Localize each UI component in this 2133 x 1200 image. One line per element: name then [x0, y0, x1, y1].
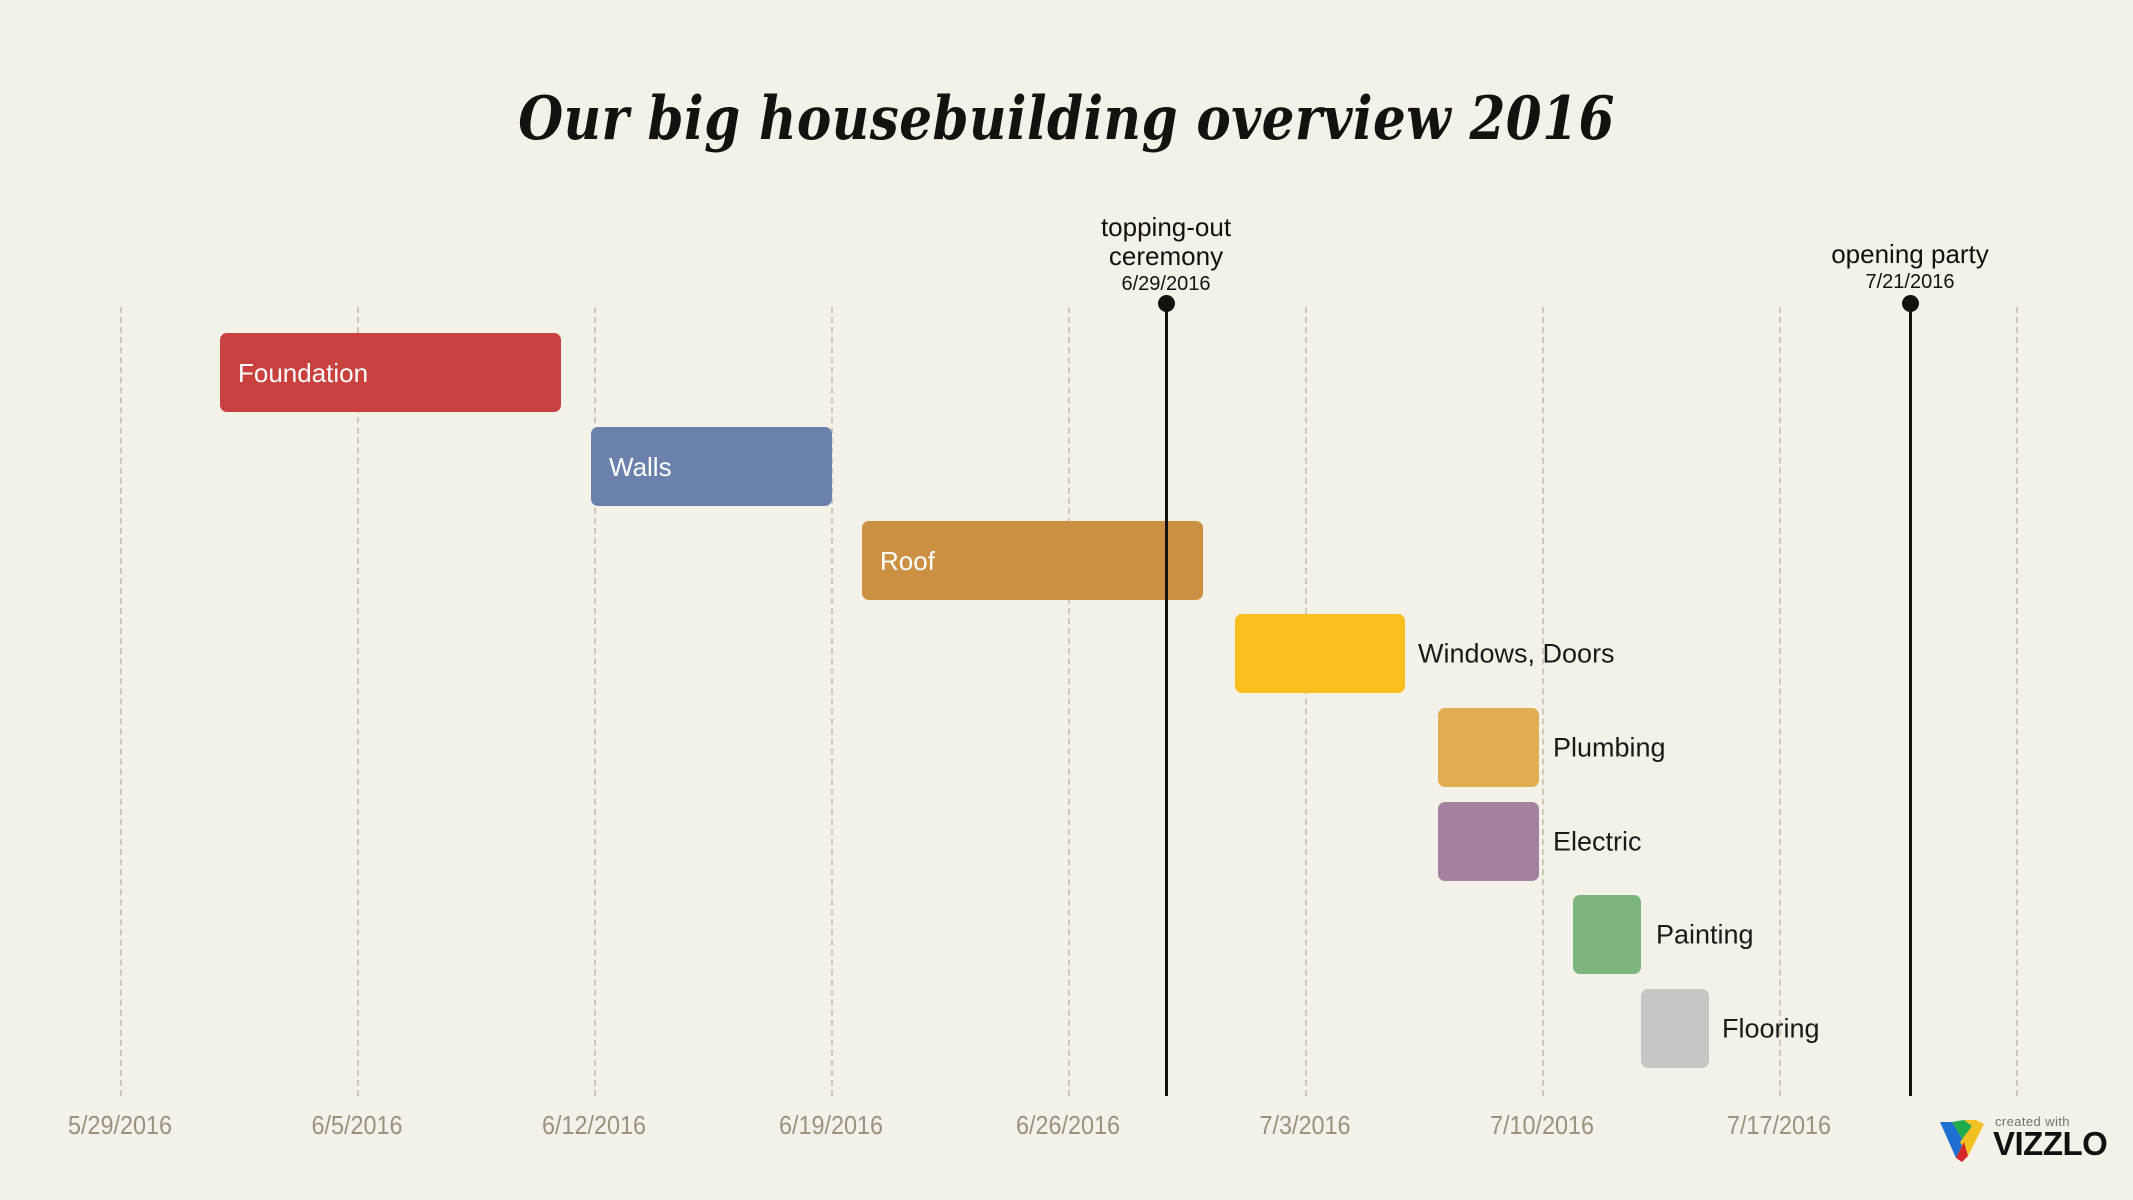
gantt-bar-label: Electric [1553, 829, 1642, 856]
axis-tick-label: 6/5/2016 [267, 1110, 447, 1141]
gridline [1305, 307, 1307, 1096]
axis-tick-label: 6/26/2016 [978, 1110, 1158, 1141]
gantt-bar-label: Plumbing [1553, 735, 1666, 762]
gridline [2016, 307, 2018, 1096]
gridline [1542, 307, 1544, 1096]
milestone-label-opening-party: opening party 7/21/2016 [1810, 240, 2010, 294]
milestone-date: 6/29/2016 [1066, 273, 1266, 295]
milestone-name: opening party [1810, 240, 2010, 269]
axis-tick-label: 7/17/2016 [1689, 1110, 1869, 1141]
axis-tick-label: 7/3/2016 [1215, 1110, 1395, 1141]
gantt-bar-label: Walls [609, 454, 672, 480]
gantt-bar-electric[interactable] [1438, 802, 1539, 881]
plot-area: Foundation Walls Roof Windows, Doors Plu… [0, 0, 2133, 1200]
milestone-label-topping-out: topping-out ceremony 6/29/2016 [1066, 213, 1266, 296]
gantt-bar-label: Foundation [238, 360, 368, 386]
milestone-name: topping-out [1066, 213, 1266, 242]
gridline [594, 307, 596, 1096]
axis-tick-label: 6/19/2016 [741, 1110, 921, 1141]
axis-tick-label: 5/29/2016 [30, 1110, 210, 1141]
gantt-bar-walls[interactable]: Walls [591, 427, 832, 506]
watermark-brand: VIZZLO [1993, 1127, 2107, 1160]
gridline [831, 307, 833, 1096]
gridline [1779, 307, 1781, 1096]
gantt-bar-label: Roof [880, 548, 935, 574]
gantt-bar-label: Painting [1656, 922, 1754, 949]
gantt-bar-label: Windows, Doors [1418, 641, 1615, 668]
milestone-line-topping-out [1165, 303, 1168, 1096]
axis-tick-label: 7/10/2016 [1452, 1110, 1632, 1141]
milestone-date: 7/21/2016 [1810, 271, 2010, 293]
gantt-bar-flooring[interactable] [1641, 989, 1709, 1068]
vizzlo-watermark[interactable]: created with VIZZLO [1938, 1112, 2108, 1168]
gantt-bar-windows-doors[interactable] [1235, 614, 1405, 693]
gridline [1068, 307, 1070, 1096]
gantt-bar-painting[interactable] [1573, 895, 1641, 974]
axis-tick-label: 6/12/2016 [504, 1110, 684, 1141]
gantt-bar-plumbing[interactable] [1438, 708, 1539, 787]
gridline [357, 307, 359, 1096]
gantt-bar-roof[interactable]: Roof [862, 521, 1203, 600]
milestone-line-opening-party [1909, 303, 1912, 1096]
gantt-bar-foundation[interactable]: Foundation [220, 333, 561, 412]
gridline [120, 307, 122, 1096]
vizzlo-logo-icon [1938, 1118, 1990, 1169]
gantt-bar-label: Flooring [1722, 1016, 1820, 1043]
gantt-chart: Our big housebuilding overview 2016 Foun… [0, 0, 2133, 1200]
milestone-name: ceremony [1066, 242, 1266, 271]
